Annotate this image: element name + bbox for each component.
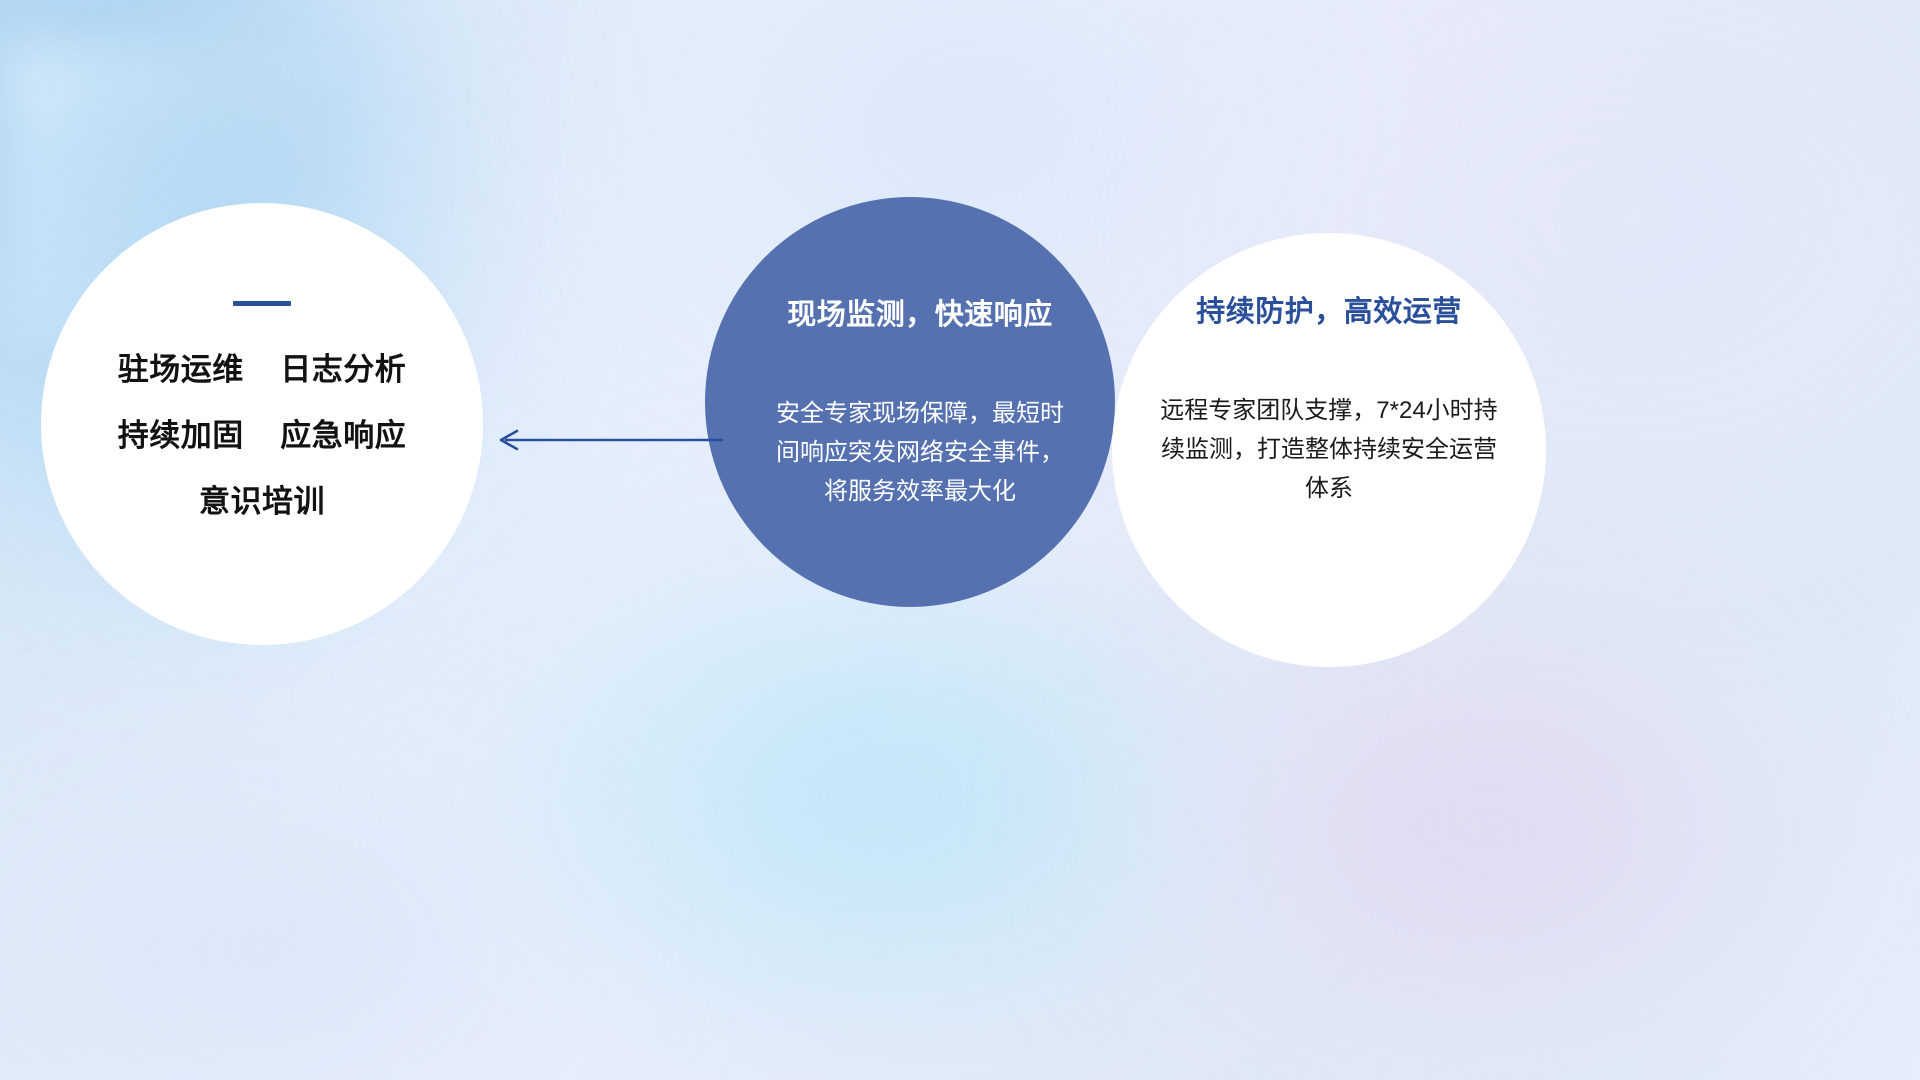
right-circle-body: 远程专家团队支撑，7*24小时持续监测，打造整体持续安全运营体系 <box>1155 392 1503 509</box>
left-circle-line-2: 持续加固 应急响应 <box>41 420 483 451</box>
left-circle-line-1: 驻场运维 日志分析 <box>41 354 483 385</box>
right-operations-circle: 持续防护，高效运营 远程专家团队支撑，7*24小时持续监测，打造整体持续安全运营… <box>1112 233 1546 667</box>
center-circle-content: 现场监测，快速响应 安全专家现场保障，最短时间响应突发网络安全事件，将服务效率最… <box>755 291 1085 512</box>
connector-arrow <box>495 425 725 455</box>
center-circle-body: 安全专家现场保障，最短时间响应突发网络安全事件，将服务效率最大化 <box>775 395 1065 512</box>
center-circle-title: 现场监测，快速响应 <box>755 291 1085 333</box>
left-service-circle: 驻场运维 日志分析 持续加固 应急响应 意识培训 <box>41 203 483 645</box>
slide-canvas: 驻场运维 日志分析 持续加固 应急响应 意识培训 现场监测，快速响应 安全专家现… <box>0 0 1920 1080</box>
divider-dash-icon <box>233 301 291 306</box>
center-monitoring-circle: 现场监测，快速响应 安全专家现场保障，最短时间响应突发网络安全事件，将服务效率最… <box>705 197 1115 607</box>
right-circle-title: 持续防护，高效运营 <box>1112 288 1546 330</box>
left-circle-line-3: 意识培训 <box>41 486 483 517</box>
right-circle-content: 持续防护，高效运营 远程专家团队支撑，7*24小时持续监测，打造整体持续安全运营… <box>1112 288 1546 509</box>
left-circle-content: 驻场运维 日志分析 持续加固 应急响应 意识培训 <box>41 301 483 517</box>
arrow-left-icon <box>495 425 725 455</box>
